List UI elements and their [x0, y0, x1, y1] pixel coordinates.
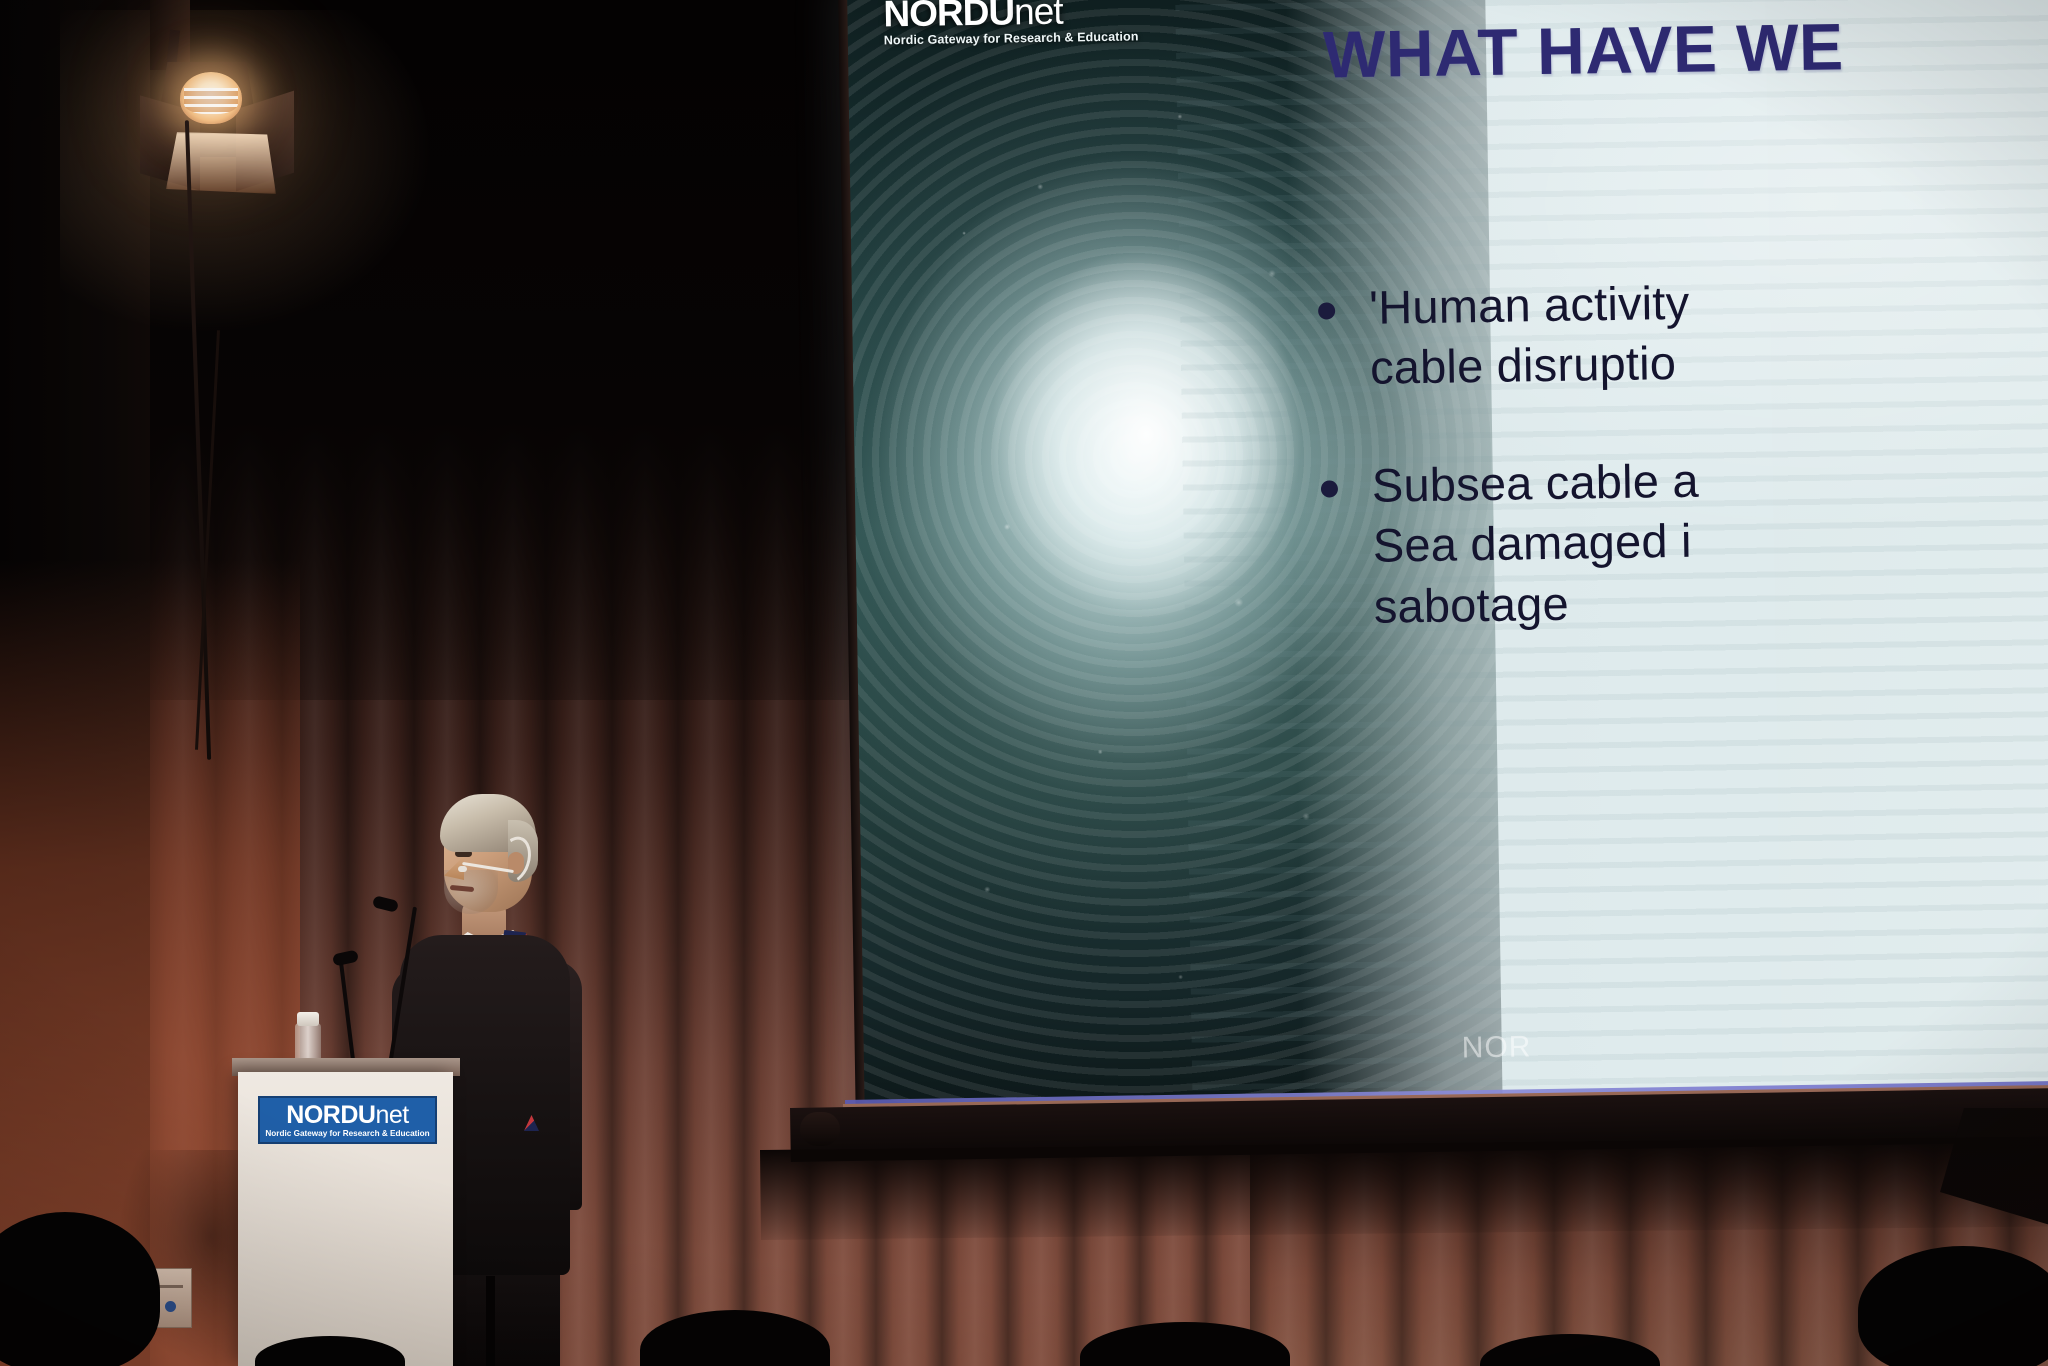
wall-plate-label: [159, 1285, 183, 1288]
podium-logo-tagline: Nordic Gateway for Research & Education: [265, 1129, 429, 1138]
slide-bullet-item: 'Human activity cable disruptio: [1318, 265, 2048, 398]
slide-logo-wordmark: NORDUnet: [883, 0, 1144, 32]
bullet-dot-icon: [1321, 481, 1338, 498]
water-bottle-cap: [297, 1012, 319, 1026]
wall-plate-socket-icon: [165, 1301, 176, 1312]
slide-bullet-item: Subsea cable a Sea damaged i sabotage: [1320, 444, 2048, 638]
presentation-slide: NORDUnet Nordic Gateway for Research & E…: [845, 0, 2048, 1118]
slide-bullet-list: 'Human activity cable disruptio Subsea c…: [1318, 265, 2048, 695]
podium: NORDUnet Nordic Gateway for Research & E…: [238, 1072, 453, 1366]
slide-watermark: NOR: [1461, 1030, 1531, 1065]
headset-mic-capsule-icon: [458, 866, 467, 872]
stage-photo: NORDUnet Nordic Gateway for Research & E…: [0, 0, 2048, 1366]
speaker-leg-gap: [486, 1276, 495, 1366]
bullet-text: 'Human activity cable disruptio: [1369, 273, 1691, 398]
podium-logo-wordmark: NORDUnet: [286, 1103, 408, 1128]
bullet-dot-icon: [1318, 302, 1335, 319]
projection-screen: NORDUnet Nordic Gateway for Research & E…: [845, 0, 2048, 1118]
spotlight-bulb-icon: [180, 72, 242, 124]
screen-roller-end: [800, 1112, 840, 1146]
slide-title: WHAT HAVE WE: [1323, 2, 2048, 92]
spotlight-front-panel: [166, 132, 276, 194]
stage-shadow-band: [760, 1136, 2048, 1240]
podium-nordunet-logo: NORDUnet Nordic Gateway for Research & E…: [258, 1096, 437, 1144]
slide-nordunet-logo: NORDUnet Nordic Gateway for Research & E…: [883, 0, 1144, 47]
bullet-text: Subsea cable a Sea damaged i sabotage: [1371, 451, 1701, 637]
